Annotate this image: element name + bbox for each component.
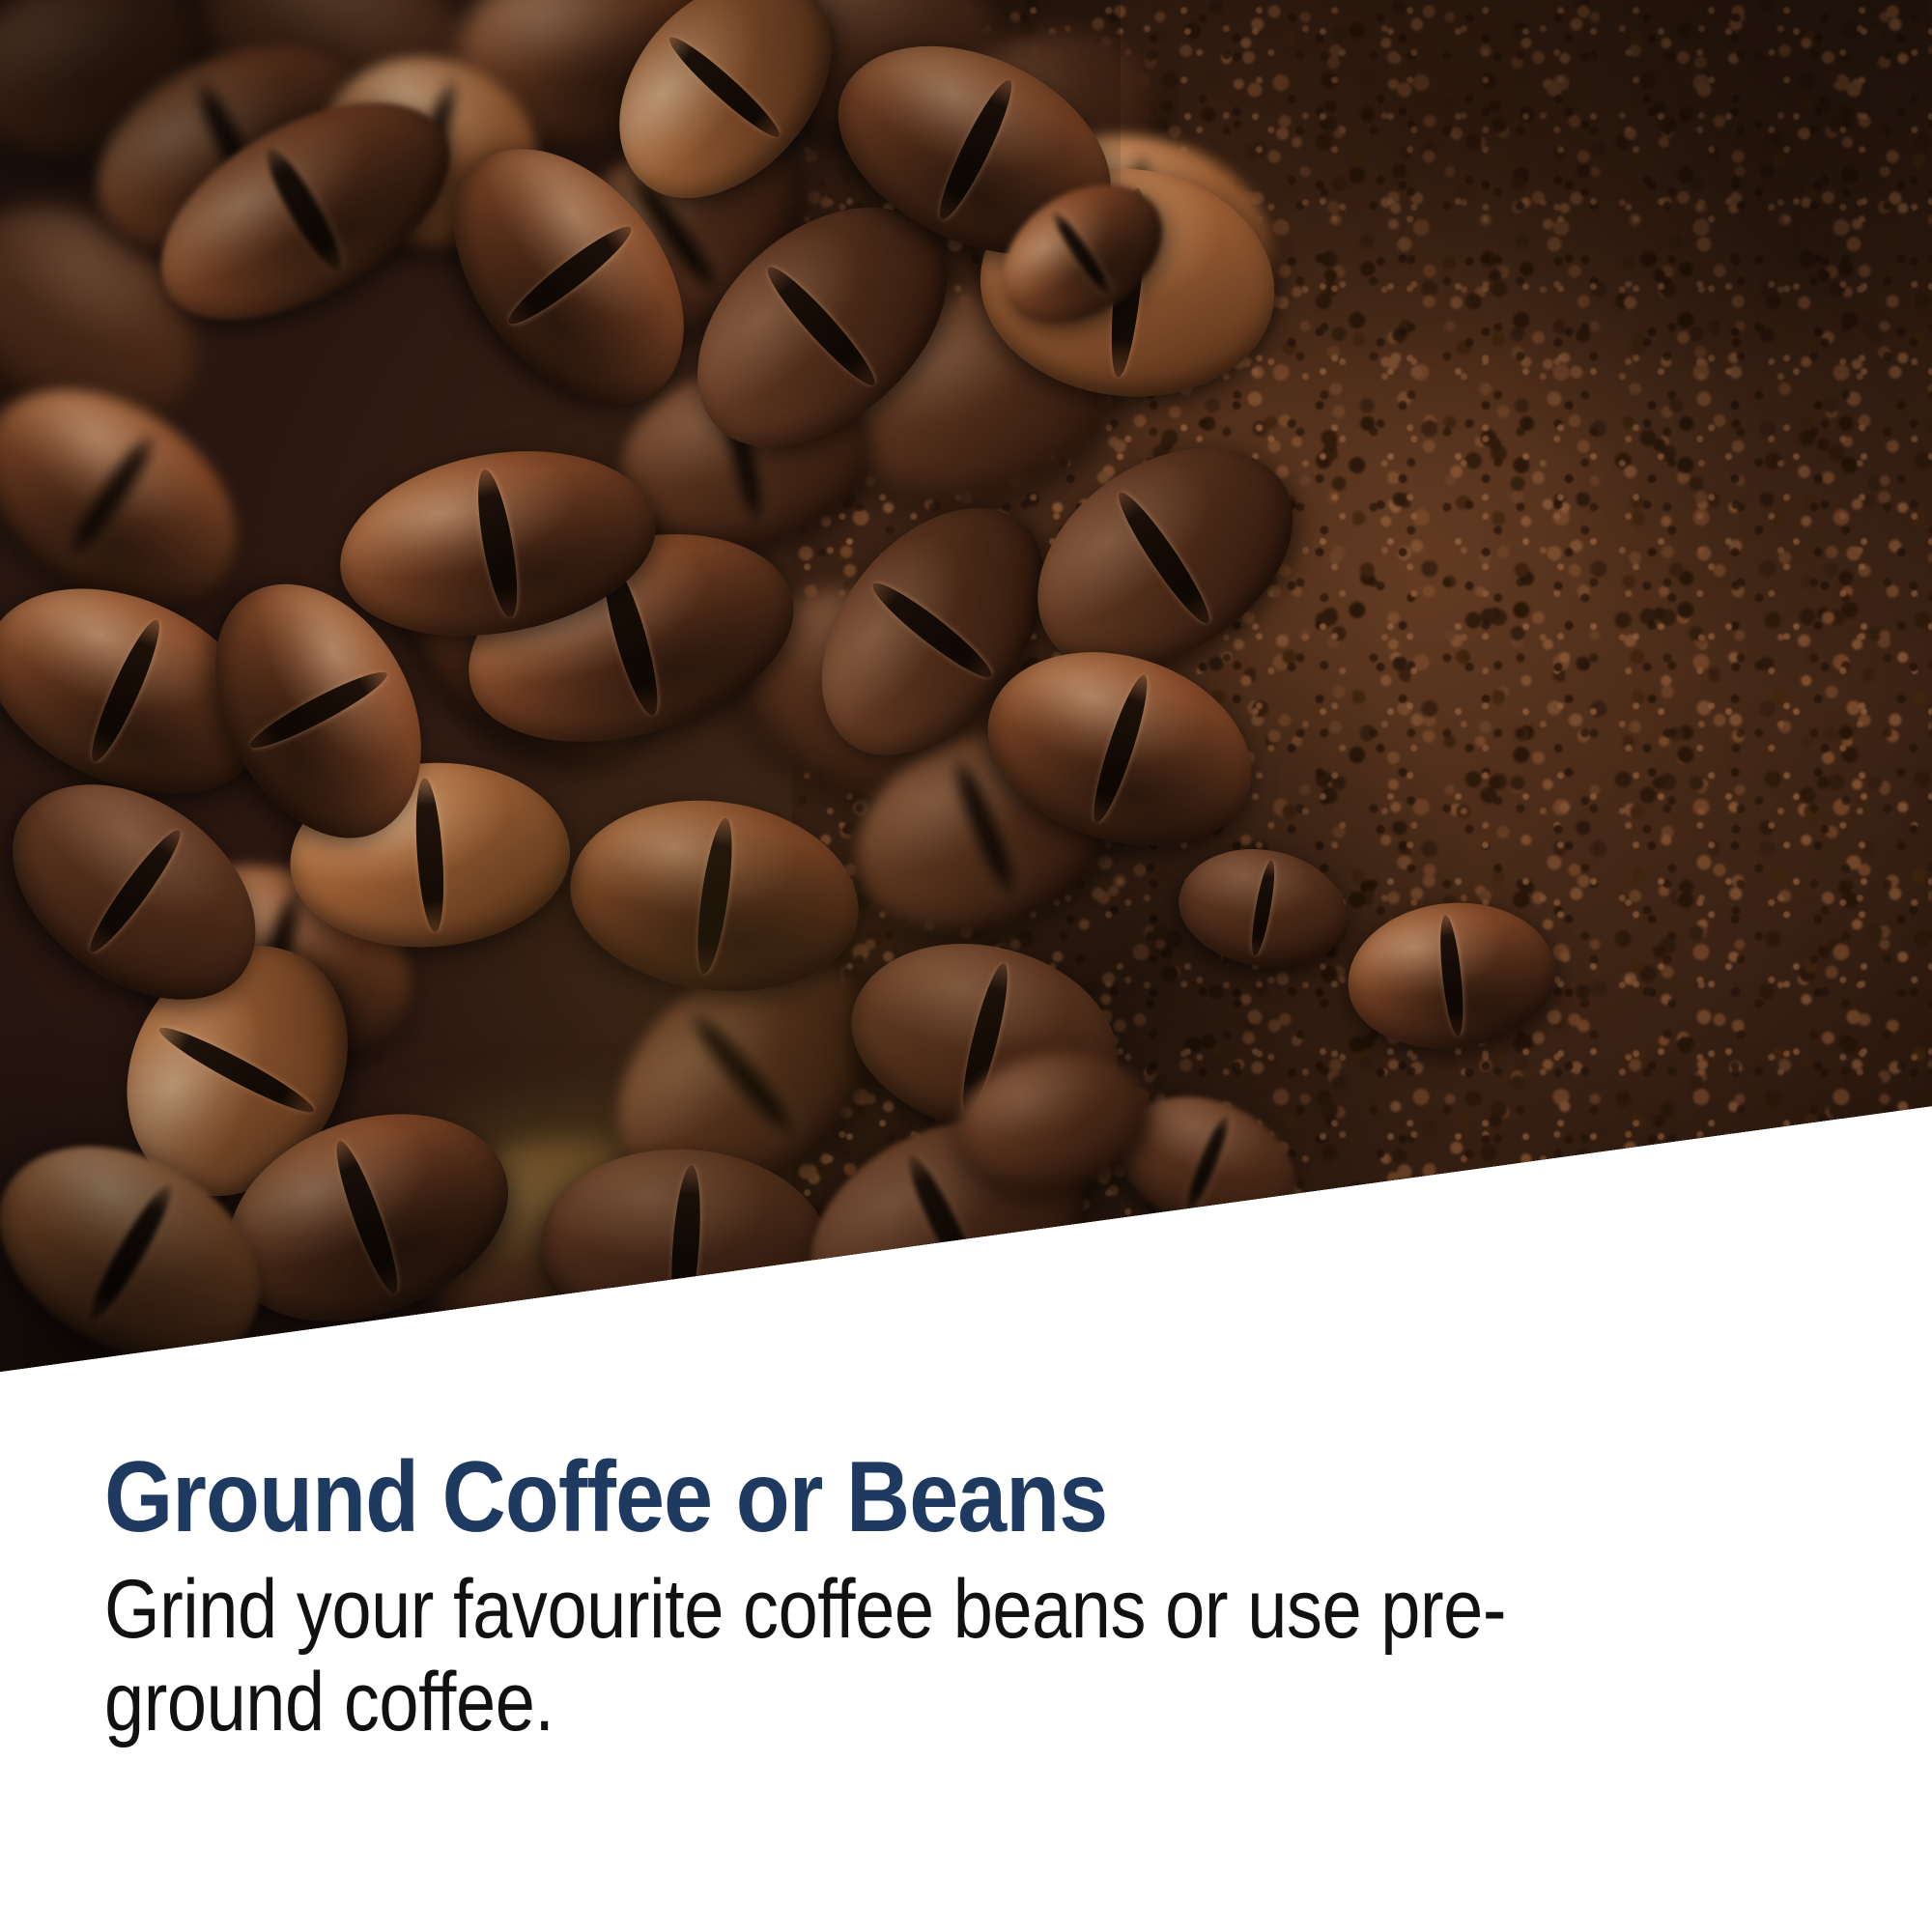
coffee-photo [0,0,1932,1391]
card-heading: Ground Coffee or Beans [104,1447,1107,1548]
coffee-feature-card: Ground Coffee or Beans Grind your favour… [0,0,1932,1932]
card-body-text: Grind your favourite coffee beans or use… [104,1563,1533,1749]
text-panel: Ground Coffee or Beans Grind your favour… [0,1391,1932,1932]
whole-beans-region [0,0,1082,1391]
